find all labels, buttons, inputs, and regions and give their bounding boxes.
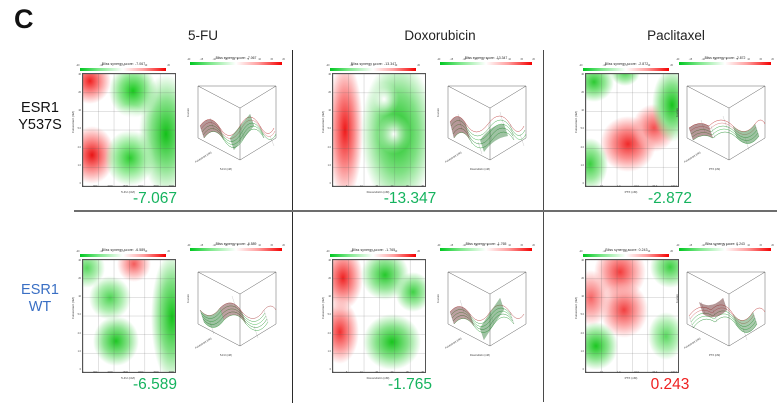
synergy-score-wt-5fu: -6.589 (100, 376, 210, 394)
cbtick: 15 (520, 59, 523, 61)
colorbar (80, 254, 166, 257)
cbtick: 15 (270, 245, 273, 247)
ytick: 20 (328, 91, 331, 94)
cell-y537s-doxorubicin: Bliss synergy score: -13.347 -20 -10 0 1… (310, 52, 543, 210)
ytick: 5.0 (328, 127, 331, 130)
cbtick: 15 (520, 245, 523, 247)
xtick: 0 (82, 185, 83, 188)
x-axis-ticks: 0 0.1 1.0 10.0 50.0 100.0 (585, 371, 677, 374)
x-axis-label: 5-FU (nM) (220, 354, 232, 357)
column-header-paclitaxel: Paclitaxel (586, 28, 766, 43)
xtick: 0 (332, 185, 333, 188)
colorbar (330, 254, 416, 257)
cbtick: 0 (487, 245, 488, 247)
z-axis-label: δ-score (187, 294, 190, 303)
heatmap-surface (82, 259, 176, 373)
panel-label: C (14, 4, 34, 35)
colorbar (80, 68, 166, 71)
cbtick: -20 (579, 64, 582, 67)
xtick: 5 (346, 371, 347, 374)
cbtick: -20 (676, 59, 679, 61)
colorbar (440, 62, 532, 65)
cbtick: 10 (508, 59, 511, 61)
heatmap-grid (83, 74, 175, 186)
cbtick: -20 (76, 250, 79, 253)
surface-mesh (438, 254, 534, 354)
cbtick: -10 (702, 59, 705, 61)
colorbar (679, 248, 771, 251)
xtick: 1000 (107, 371, 112, 374)
xtick: 10 (360, 371, 363, 374)
cbtick: 5 (498, 245, 499, 247)
xtick: 15 (375, 371, 378, 374)
cbtick: 0 (237, 59, 238, 61)
xtick: 1500 (123, 185, 128, 188)
cbtick: 15 (759, 245, 762, 247)
cbtick: 5 (737, 59, 738, 61)
ytick: 20 (581, 91, 584, 94)
cbtick: 0 (726, 245, 727, 247)
ytick: 40 (328, 73, 331, 76)
colorbar (440, 248, 532, 251)
colorbar (583, 254, 669, 257)
heatmap-grid (83, 260, 175, 372)
ytick: 1.0 (78, 350, 81, 353)
xtick: 10.0 (634, 371, 639, 374)
y-axis-label: Fulvestrant (nM) (321, 285, 325, 331)
z-axis-label: δ-score (437, 294, 440, 303)
xtick: 1.0 (617, 185, 620, 188)
ytick: 0 (330, 368, 331, 371)
x-axis-ticks: 0 5 10 15 20 25 30 (332, 371, 424, 374)
xtick: 1500 (123, 371, 128, 374)
ytick: 2.0 (78, 332, 81, 335)
xtick: 1.0 (617, 371, 620, 374)
cbtick: -15 (450, 245, 453, 247)
cbtick: 15 (270, 59, 273, 61)
xtick: 20 (391, 185, 394, 188)
ytick: 20 (78, 277, 81, 280)
surface-mesh (438, 68, 534, 168)
ytick: 5.0 (78, 127, 81, 130)
ytick: 10 (328, 295, 331, 298)
cbtick: 0 (726, 59, 727, 61)
ytick: 40 (328, 259, 331, 262)
ytick: 5.0 (78, 313, 81, 316)
cbtick: -15 (689, 245, 692, 247)
cbtick: -10 (463, 245, 466, 247)
surface-3d: Bliss synergy score: -2.872 -20 -15 -10 … (675, 56, 775, 181)
surface-3d: Bliss synergy score: -13.347 -20 -15 -10… (436, 56, 536, 181)
cell-y537s-5fu: Bliss synergy score: -7.067 -20 -10 0 10… (60, 52, 292, 210)
colorbar (679, 62, 771, 65)
cbtick: 20 (167, 250, 170, 253)
ytick: 2.0 (78, 146, 81, 149)
ytick: 2.0 (328, 332, 331, 335)
ytick: 1.0 (328, 350, 331, 353)
column-divider-2 (543, 50, 544, 402)
surface-3d: Bliss synergy score: -6.589 -20 -15 -10 … (186, 242, 286, 367)
ytick: 5.0 (581, 313, 584, 316)
heatmap-2d: Bliss synergy score: -7.067 -20 -10 0 10… (66, 62, 181, 202)
colorbar (190, 248, 282, 251)
x-axis-label: Doxorubicin (nM) (470, 354, 490, 357)
colorbar (330, 68, 416, 71)
ytick: 1.0 (581, 350, 584, 353)
x-axis-label: 5-FU (nM) (220, 168, 232, 171)
xtick: 3000 (169, 185, 174, 188)
ytick: 20 (581, 277, 584, 280)
cbtick: 20 (532, 59, 535, 61)
heatmap-2d: Bliss synergy score: -13.347 -20 -10 0 1… (316, 62, 431, 202)
ytick: 10 (78, 109, 81, 112)
cbtick: -15 (200, 59, 203, 61)
colorbar-ticks: -20 -15 -10 -5 0 5 10 15 20 (437, 59, 535, 61)
cbtick: 5 (737, 245, 738, 247)
cbtick: -5 (475, 245, 477, 247)
xtick: 25 (406, 371, 409, 374)
xtick: 30 (421, 371, 424, 374)
cbtick: 20 (771, 59, 774, 61)
z-axis-label: δ-score (187, 108, 190, 117)
xtick: 0 (332, 371, 333, 374)
cell-y537s-paclitaxel: Bliss synergy score: -2.872 -20 -10 0 10… (563, 52, 777, 210)
cbtick: -20 (437, 245, 440, 247)
column-header-5fu: 5-FU (108, 28, 298, 43)
cell-wt-5fu: Bliss synergy score: -6.589 -20 -10 0 10… (60, 238, 292, 378)
xtick: 25 (406, 185, 409, 188)
cbtick: 5 (248, 245, 249, 247)
xtick: 5 (346, 185, 347, 188)
cbtick: -10 (463, 59, 466, 61)
surface-mesh (677, 68, 773, 168)
surface-mesh (188, 68, 284, 168)
synergy-score-y537s-5fu: -7.067 (100, 190, 210, 208)
cbtick: -15 (200, 245, 203, 247)
xtick: 50.0 (653, 371, 658, 374)
cbtick: 15 (759, 59, 762, 61)
cbtick: 10 (747, 59, 750, 61)
synergy-score-wt-doxorubicin: -1.765 (340, 376, 480, 394)
heatmap-2d: Bliss synergy score: -6.589 -20 -10 0 10… (66, 248, 181, 388)
y-axis-label: Fulvestrant (nM) (574, 99, 578, 145)
cbtick: -15 (689, 59, 692, 61)
x-axis-label: PTX (nM) (709, 354, 720, 357)
ytick: 10 (581, 109, 584, 112)
cbtick: -20 (187, 245, 190, 247)
y-axis-label: Fulvestrant (nM) (321, 99, 325, 145)
x-axis-ticks: 0 500 1000 1500 2000 2500 3000 (82, 185, 174, 188)
cell-wt-doxorubicin: Bliss synergy score: -1.765 -20 -10 0 10… (310, 238, 543, 378)
cbtick: 20 (532, 245, 535, 247)
cbtick: 20 (282, 59, 285, 61)
heatmap-2d: Bliss synergy score: -2.872 -20 -10 0 10… (569, 62, 684, 202)
ytick: 40 (581, 259, 584, 262)
ytick: 10 (328, 109, 331, 112)
heatmap-grid (333, 74, 425, 186)
colorbar (190, 62, 282, 65)
cbtick: -5 (475, 59, 477, 61)
cbtick: -10 (213, 59, 216, 61)
xtick: 0 (585, 371, 586, 374)
cbtick: 20 (417, 250, 420, 253)
synergy-score-y537s-doxorubicin: -13.347 (340, 190, 480, 208)
xtick: 0 (585, 185, 586, 188)
ytick: 10 (78, 295, 81, 298)
ytick: 1.0 (328, 164, 331, 167)
surface-3d: Bliss synergy score: 0.243 -20 -15 -10 -… (675, 242, 775, 367)
ytick: 2.0 (328, 146, 331, 149)
heatmap-surface (585, 259, 679, 373)
cbtick: -20 (76, 64, 79, 67)
xtick: 0 (82, 371, 83, 374)
ytick: 10 (581, 295, 584, 298)
heatmap-surface (585, 73, 679, 187)
cbtick: -20 (579, 250, 582, 253)
x-axis-label: PTX (nM) (709, 168, 720, 171)
y-axis-label: Fulvestrant (nM) (71, 99, 75, 145)
surface-3d: Bliss synergy score: -1.765 -20 -15 -10 … (436, 242, 536, 367)
cbtick: -5 (714, 245, 716, 247)
xtick: 3000 (169, 371, 174, 374)
xtick: 500 (93, 185, 97, 188)
colorbar-ticks: -20 -15 -10 -5 0 5 10 15 20 (187, 245, 285, 247)
cbtick: -10 (702, 245, 705, 247)
cbtick: -20 (326, 250, 329, 253)
ytick: 0 (80, 368, 81, 371)
column-divider-1 (292, 50, 293, 403)
cbtick: 20 (417, 64, 420, 67)
ytick: 2.0 (581, 332, 584, 335)
ytick: 0 (583, 368, 584, 371)
cbtick: -20 (326, 64, 329, 67)
xtick: 10.0 (634, 185, 639, 188)
heatmap-grid (333, 260, 425, 372)
z-axis-label: δ-score (676, 108, 679, 117)
x-axis-ticks: 0 5 10 15 20 25 30 (332, 185, 424, 188)
x-axis-label: Doxorubicin (nM) (470, 168, 490, 171)
colorbar-ticks: -20 -15 -10 -5 0 5 10 15 20 (437, 245, 535, 247)
xtick: 20 (391, 371, 394, 374)
cbtick: 20 (282, 245, 285, 247)
x-axis-ticks: 0 0.1 1.0 10.0 50.0 100.0 (585, 185, 677, 188)
cbtick: 5 (248, 59, 249, 61)
cbtick: 10 (747, 245, 750, 247)
xtick: 15 (375, 185, 378, 188)
cbtick: 5 (498, 59, 499, 61)
surface-mesh (188, 254, 284, 354)
cbtick: 20 (771, 245, 774, 247)
ytick: 20 (328, 277, 331, 280)
cbtick: 10 (508, 245, 511, 247)
xtick: 100.0 (671, 371, 677, 374)
cbtick: 10 (258, 245, 261, 247)
cbtick: -15 (450, 59, 453, 61)
ytick: 2.0 (581, 146, 584, 149)
y-axis-label: Fulvestrant (nM) (71, 285, 75, 331)
z-axis-label: δ-score (437, 108, 440, 117)
heatmap-grid (586, 74, 678, 186)
ytick: 40 (78, 73, 81, 76)
ytick: 5.0 (328, 313, 331, 316)
cbtick: 20 (670, 250, 673, 253)
colorbar (583, 68, 669, 71)
colorbar-ticks: -20 -15 -10 -5 0 5 10 15 20 (676, 245, 774, 247)
xtick: 1000 (107, 185, 112, 188)
column-header-doxorubicin: Doxorubicin (340, 28, 540, 43)
cbtick: -5 (714, 59, 716, 61)
synergy-score-y537s-paclitaxel: -2.872 (600, 190, 740, 208)
xtick: 0.1 (600, 185, 603, 188)
heatmap-2d: Bliss synergy score: 0.243 -20 -10 0 10 … (569, 248, 684, 388)
heatmap-surface (332, 73, 426, 187)
ytick: 0 (583, 182, 584, 185)
heatmap-grid (586, 260, 678, 372)
cbtick: -20 (437, 59, 440, 61)
colorbar-ticks: -20 -15 -10 -5 0 5 10 15 20 (676, 59, 774, 61)
surface-mesh (677, 254, 773, 354)
cbtick: 20 (167, 64, 170, 67)
ytick: 5.0 (581, 127, 584, 130)
xtick: 30 (421, 185, 424, 188)
ytick: 20 (78, 91, 81, 94)
xtick: 0.1 (600, 371, 603, 374)
cbtick: 20 (670, 64, 673, 67)
xtick: 2500 (153, 371, 158, 374)
synergy-score-wt-paclitaxel: 0.243 (600, 376, 740, 394)
xtick: 100.0 (671, 185, 677, 188)
xtick: 10 (360, 185, 363, 188)
cell-wt-paclitaxel: Bliss synergy score: 0.243 -20 -10 0 10 … (563, 238, 777, 378)
xtick: 2000 (138, 185, 143, 188)
ytick: 40 (581, 73, 584, 76)
cbtick: -10 (213, 245, 216, 247)
cbtick: -5 (225, 59, 227, 61)
colorbar-ticks: -20 -15 -10 -5 0 5 10 15 20 (187, 59, 285, 61)
cbtick: -20 (187, 59, 190, 61)
z-axis-label: δ-score (676, 294, 679, 303)
cbtick: 10 (258, 59, 261, 61)
ytick: 0 (80, 182, 81, 185)
xtick: 50.0 (653, 185, 658, 188)
ytick: 0 (330, 182, 331, 185)
cbtick: 0 (237, 245, 238, 247)
xtick: 500 (93, 371, 97, 374)
heatmap-surface (82, 73, 176, 187)
heatmap-surface (332, 259, 426, 373)
cbtick: -20 (676, 245, 679, 247)
cbtick: -5 (225, 245, 227, 247)
ytick: 1.0 (581, 164, 584, 167)
surface-3d: Bliss synergy score: -7.067 -20 -15 -10 … (186, 56, 286, 181)
row-divider (74, 210, 777, 212)
heatmap-2d: Bliss synergy score: -1.765 -20 -10 0 10… (316, 248, 431, 388)
y-axis-label: Fulvestrant (nM) (574, 285, 578, 331)
xtick: 2000 (138, 371, 143, 374)
xtick: 2500 (153, 185, 158, 188)
ytick: 1.0 (78, 164, 81, 167)
x-axis-ticks: 0 500 1000 1500 2000 2500 3000 (82, 371, 174, 374)
ytick: 40 (78, 259, 81, 262)
cbtick: 0 (487, 59, 488, 61)
